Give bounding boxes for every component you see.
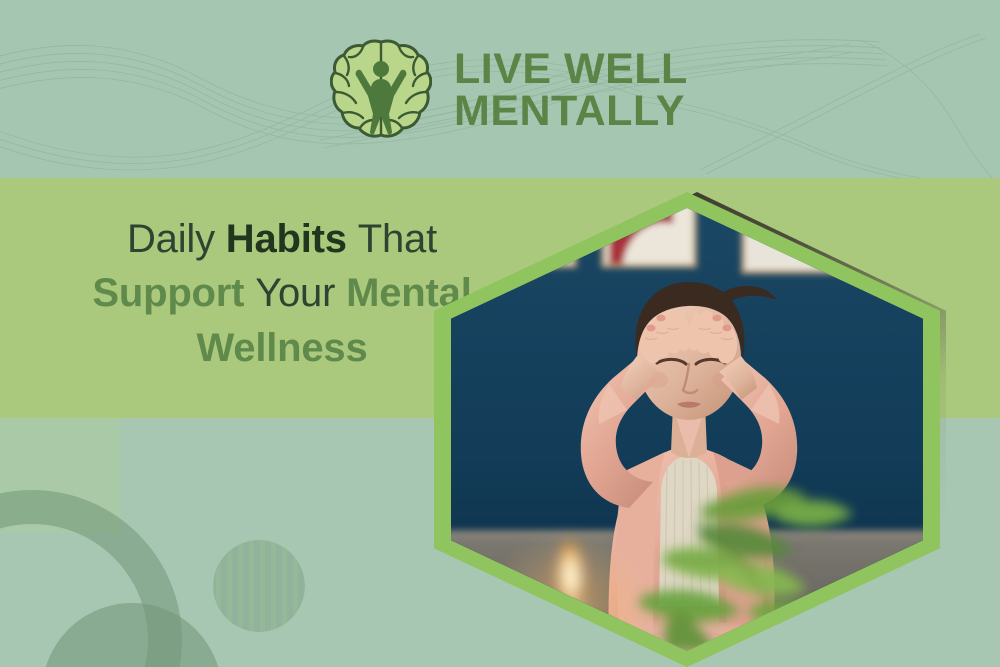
photo-alt-text: Woman meditating with fingers at her tem… [451, 208, 452, 209]
brand-name-line-1: LIVE WELL [454, 48, 688, 90]
brain-with-person-icon [330, 38, 432, 142]
hexagon-photo-frame: Woman meditating with fingers at her tem… [434, 192, 946, 667]
headline-word-daily: Daily [127, 217, 226, 261]
striped-circle-decoration [213, 540, 305, 632]
headline-word-your: Your [255, 271, 346, 315]
headline-word-support: Support [92, 271, 255, 315]
brand-name: LIVE WELL MENTALLY [454, 48, 688, 132]
header-band: LIVE WELL MENTALLY [0, 0, 1000, 178]
brand-name-line-2: MENTALLY [454, 90, 688, 132]
promotional-banner: LIVE WELL MENTALLY [0, 0, 1000, 667]
brand-logo[interactable]: LIVE WELL MENTALLY [330, 38, 688, 142]
headline-word-that: That [358, 217, 437, 261]
headline-word-habits: Habits [226, 217, 358, 261]
